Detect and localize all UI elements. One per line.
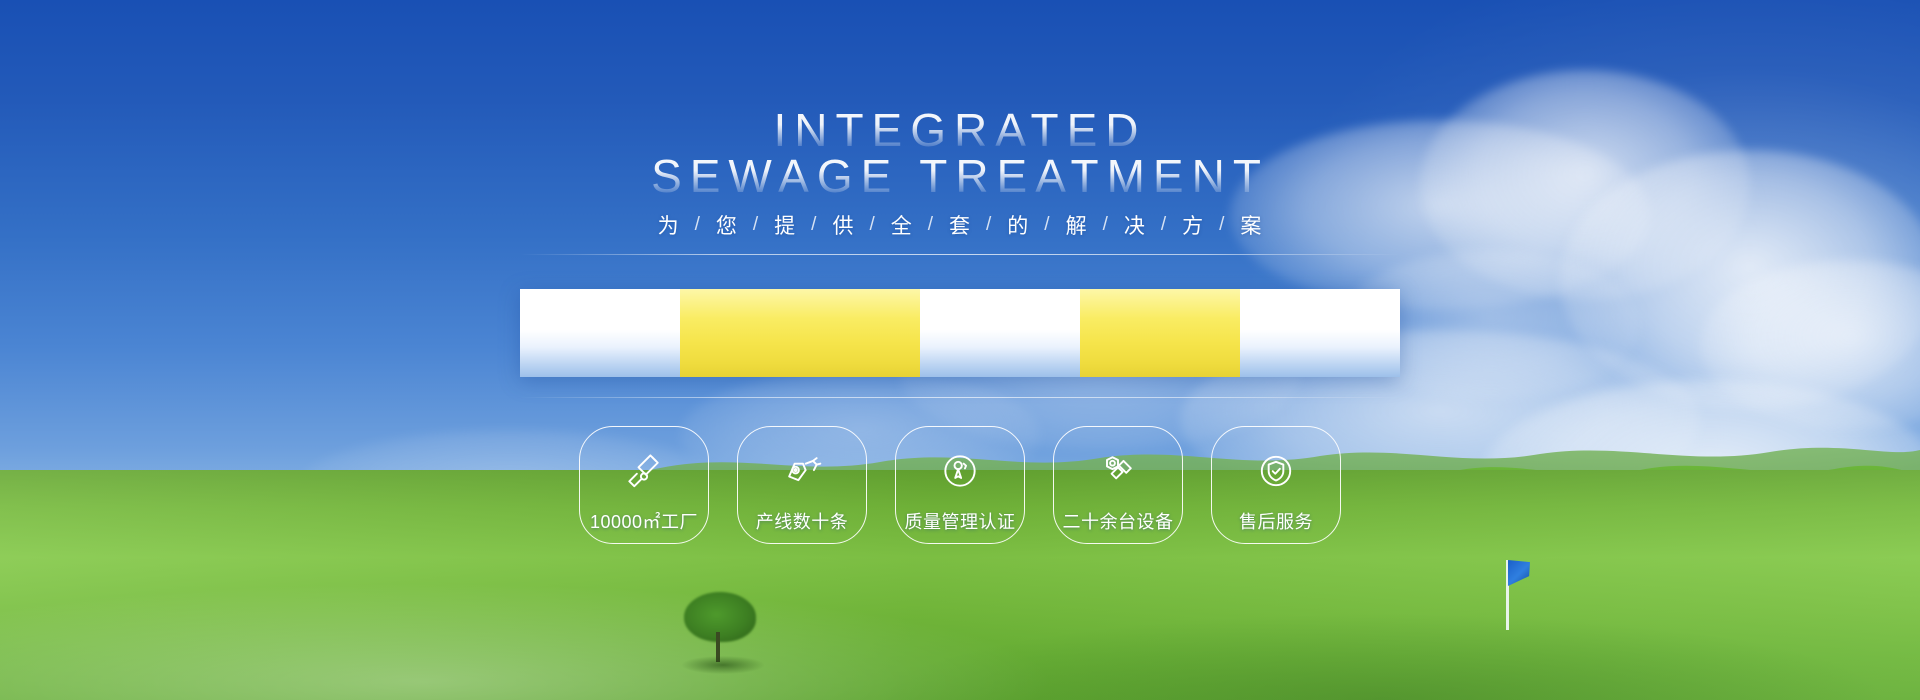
english-heading: INTEGRATED SEWAGE TREATMENT bbox=[651, 108, 1269, 198]
slogan-row: 为/您/提/供/全/套/的/解/决/方/案 bbox=[656, 210, 1265, 240]
production-line-icon bbox=[780, 449, 824, 493]
feature-badge[interactable]: 二十余台设备 bbox=[1053, 426, 1183, 544]
feature-badge-label: 产线数十条 bbox=[756, 508, 849, 534]
slogan-char: 供 bbox=[830, 210, 856, 240]
slogan-separator: / bbox=[740, 214, 772, 236]
banner-content: INTEGRATED SEWAGE TREATMENT 为/您/提/供/全/套/… bbox=[0, 0, 1920, 700]
slogan-char: 提 bbox=[772, 210, 798, 240]
feature-badge-label: 二十余台设备 bbox=[1063, 508, 1174, 534]
slogan-char: 全 bbox=[889, 210, 915, 240]
feature-badge[interactable]: 产线数十条 bbox=[737, 426, 867, 544]
headline-segment: 增大， bbox=[680, 289, 920, 377]
certificate-badge-icon bbox=[938, 449, 982, 493]
feature-badge-label: 质量管理认证 bbox=[905, 508, 1016, 534]
slogan-char: 方 bbox=[1180, 210, 1206, 240]
slogan-separator: / bbox=[856, 214, 888, 236]
divider-above-headline bbox=[520, 254, 1400, 255]
english-heading-line-2: SEWAGE TREATMENT bbox=[651, 154, 1269, 198]
slogan-char: 决 bbox=[1122, 210, 1148, 240]
slogan-char: 的 bbox=[1005, 210, 1031, 240]
headline-segment: 流量 bbox=[1080, 289, 1240, 377]
slogan-separator: / bbox=[973, 214, 1005, 236]
english-heading-line-1: INTEGRATED bbox=[651, 108, 1269, 152]
slogan-separator: / bbox=[1148, 214, 1180, 236]
feature-badge-label: 10000㎡工厂 bbox=[590, 508, 698, 534]
feature-badge[interactable]: 10000㎡工厂 bbox=[579, 426, 709, 544]
slogan-char: 套 bbox=[947, 210, 973, 240]
hero-banner: INTEGRATED SEWAGE TREATMENT 为/您/提/供/全/套/… bbox=[0, 0, 1920, 700]
headline: 口径增大，出水流量更大 bbox=[520, 271, 1400, 383]
microscope-icon bbox=[622, 449, 666, 493]
feature-badge-label: 售后服务 bbox=[1239, 508, 1313, 534]
slogan-char: 为 bbox=[656, 210, 682, 240]
slogan-char: 案 bbox=[1238, 210, 1264, 240]
headline-segment: 更大 bbox=[1240, 289, 1400, 377]
feature-badge[interactable]: 售后服务 bbox=[1211, 426, 1341, 544]
feature-badge-list: 10000㎡工厂产线数十条质量管理认证二十余台设备售后服务 bbox=[579, 426, 1341, 544]
nut-and-bolt-icon bbox=[1096, 449, 1140, 493]
headline-segment: 出水 bbox=[920, 289, 1080, 377]
slogan-separator: / bbox=[915, 214, 947, 236]
slogan-separator: / bbox=[682, 214, 714, 236]
slogan-char: 您 bbox=[714, 210, 740, 240]
divider-below-headline bbox=[520, 397, 1400, 398]
slogan-separator: / bbox=[798, 214, 830, 236]
slogan-separator: / bbox=[1090, 214, 1122, 236]
headline-segment: 口径 bbox=[520, 289, 680, 377]
shield-check-icon bbox=[1254, 449, 1298, 493]
slogan-separator: / bbox=[1206, 214, 1238, 236]
slogan-char: 解 bbox=[1064, 210, 1090, 240]
slogan-separator: / bbox=[1031, 214, 1063, 236]
feature-badge[interactable]: 质量管理认证 bbox=[895, 426, 1025, 544]
